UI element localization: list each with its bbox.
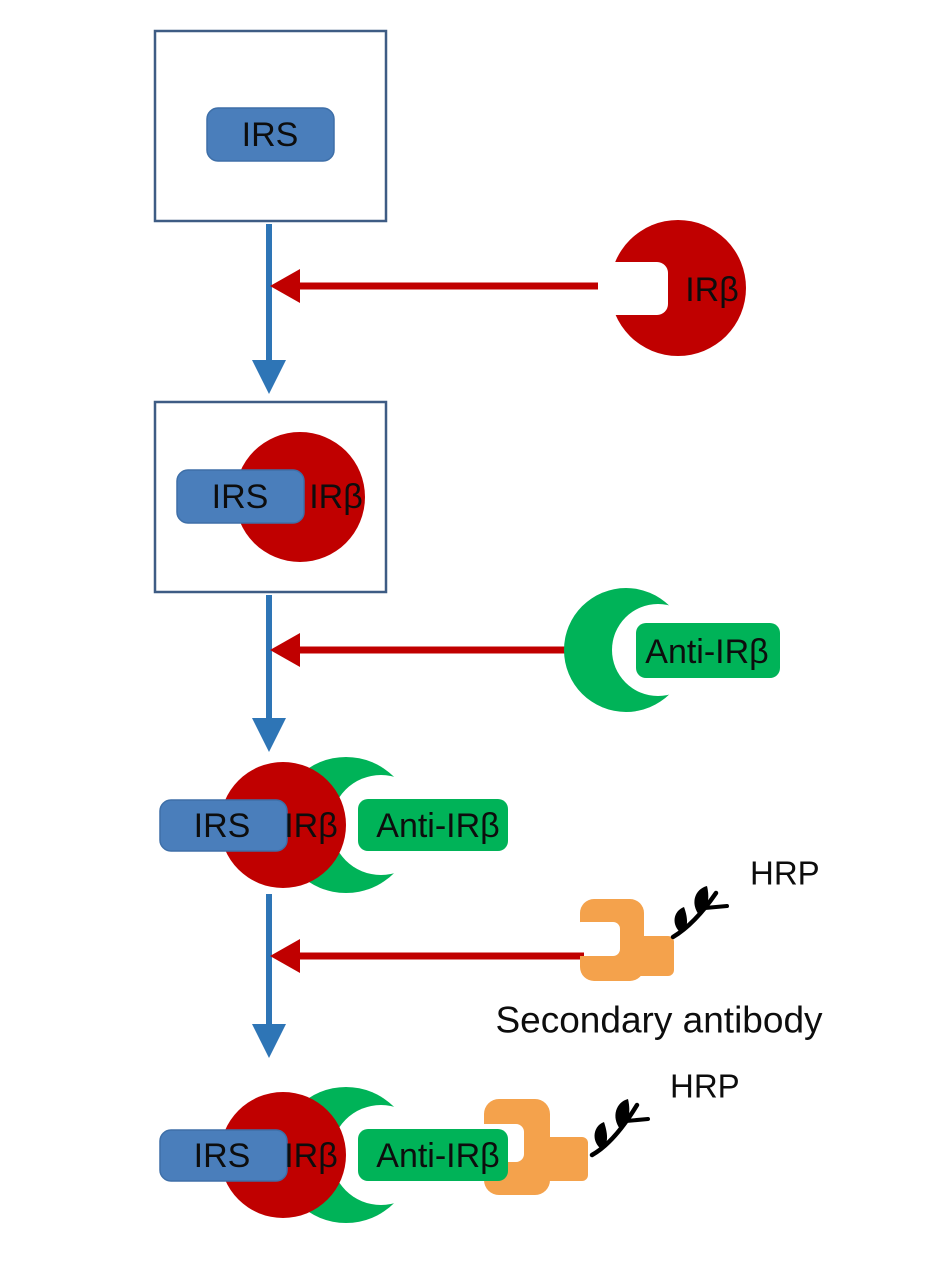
- irs-molecule-1: IRS: [207, 108, 334, 161]
- irs-molecule-2: IRS: [177, 470, 304, 523]
- hrp-branch: [705, 906, 727, 908]
- reagent-arrow-1: [270, 269, 598, 303]
- anti-irbeta-label: Anti-IRβ: [376, 1137, 499, 1175]
- stage-4-complex: IRS IRβ Anti-IRβ HRP: [160, 1068, 740, 1228]
- anti-irbeta-label: Anti-IRβ: [376, 807, 499, 845]
- secondary-antibody-shape: [570, 890, 710, 990]
- irbeta-label: IRβ: [309, 478, 363, 516]
- reagent-arrow-2: [270, 633, 585, 667]
- irs-molecule-4: IRS: [160, 1130, 287, 1181]
- irs-label: IRS: [242, 116, 299, 154]
- hrp-branch: [626, 1119, 648, 1121]
- elisa-assay-diagram: IRS IRβ: [0, 0, 934, 1272]
- irbeta-label: IRβ: [284, 807, 338, 845]
- irs-label: IRS: [212, 478, 269, 516]
- flow-arrow-1: [252, 224, 286, 394]
- flow-arrow-3: [252, 894, 286, 1058]
- reagent-anti-irbeta: Anti-IRβ: [560, 585, 780, 715]
- hrp-label: HRP: [670, 1068, 740, 1105]
- reagent-secondary-antibody: HRP Secondary antibody: [495, 855, 823, 1041]
- irbeta-label: IRβ: [284, 1137, 338, 1175]
- irs-molecule-3: IRS: [160, 800, 287, 851]
- secondary-antibody-caption: Secondary antibody: [495, 1000, 823, 1041]
- flow-arrow-2: [252, 595, 286, 752]
- anti-irbeta-label: Anti-IRβ: [645, 633, 768, 671]
- hrp-label: HRP: [750, 855, 820, 892]
- stage-1-well: IRS: [155, 31, 386, 221]
- irbeta-label: IRβ: [685, 271, 739, 309]
- irs-label: IRS: [194, 1137, 251, 1175]
- reagent-arrow-3: [270, 939, 584, 973]
- diagram-canvas: IRS IRβ: [0, 0, 934, 1272]
- stage-2-well: IRS IRβ: [155, 402, 386, 592]
- stage-3-complex: IRS IRβ Anti-IRβ: [160, 755, 508, 897]
- irbeta-shape: [590, 215, 770, 365]
- irs-label: IRS: [194, 807, 251, 845]
- reagent-irbeta: IRβ: [590, 215, 770, 365]
